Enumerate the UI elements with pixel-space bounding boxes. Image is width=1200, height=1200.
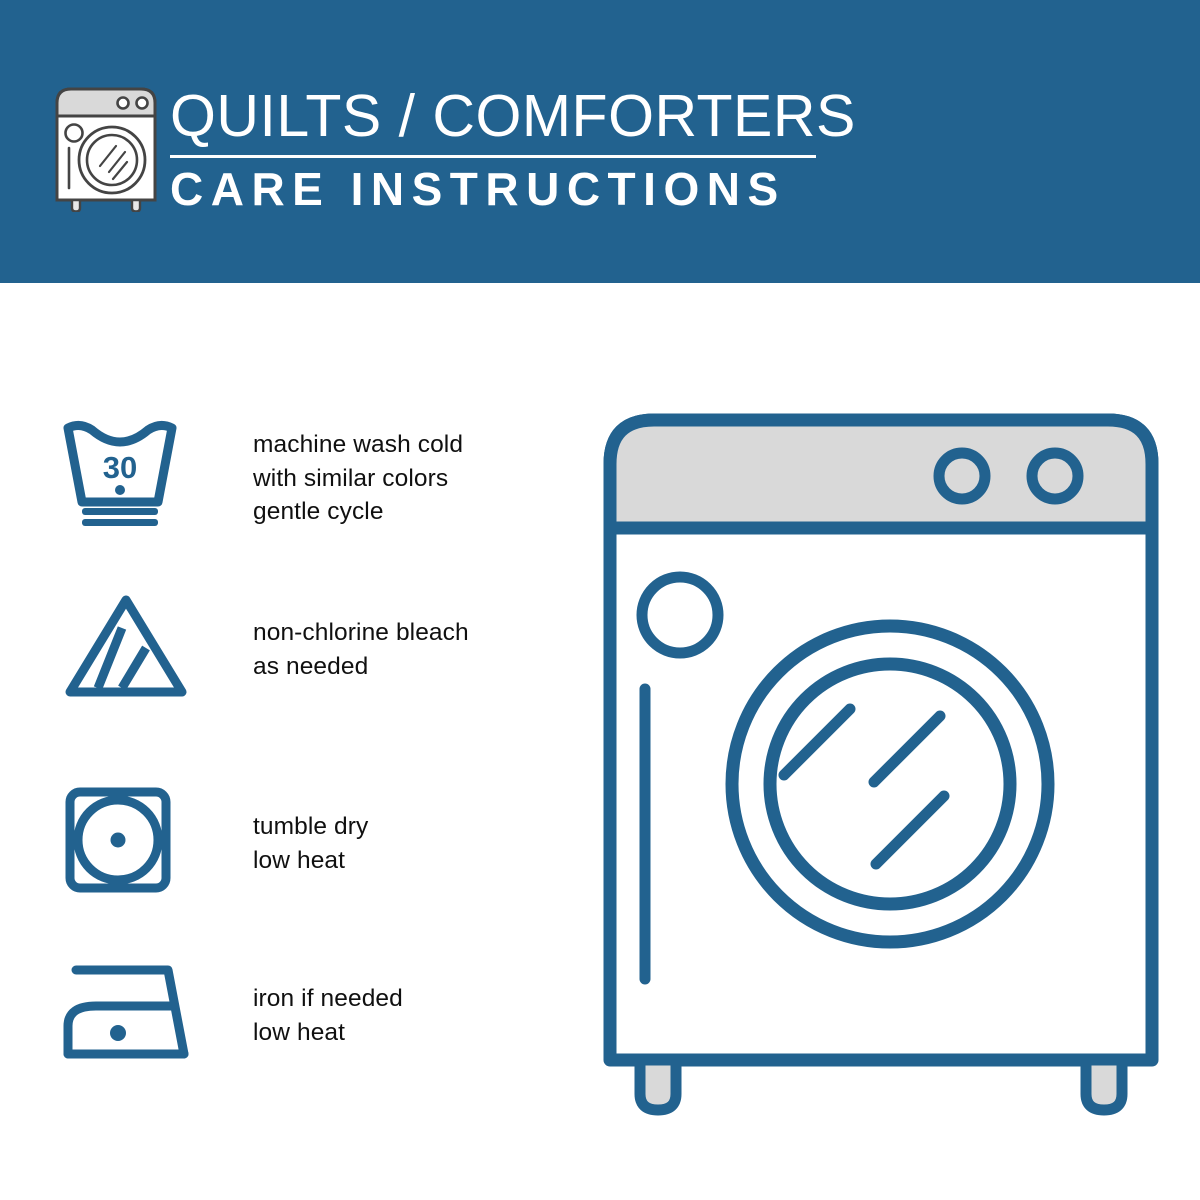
washer-indicator-circle: [642, 577, 718, 653]
care-text-bleach: non-chlorine bleach as needed: [253, 616, 469, 683]
wash-temperature-label: 30: [103, 450, 137, 485]
care-line: with similar colors: [253, 462, 463, 496]
care-text-iron: iron if needed low heat: [253, 982, 403, 1049]
care-line: non-chlorine bleach: [253, 616, 469, 650]
care-instructions-page: QUILTS / COMFORTERS CARE INSTRUCTIONS 30: [0, 0, 1200, 1200]
iron-icon: [62, 958, 194, 1067]
care-line: low heat: [253, 844, 368, 878]
washing-machine-illustration: [596, 404, 1166, 1120]
care-instruction-list: 30 machine wash cold with similar colors…: [0, 0, 560, 1200]
care-line: iron if needed: [253, 982, 403, 1016]
care-text-tumble-dry: tumble dry low heat: [253, 810, 368, 877]
tumble-dry-icon: [62, 786, 182, 899]
care-text-machine-wash: machine wash cold with similar colors ge…: [253, 428, 463, 529]
care-line: tumble dry: [253, 810, 368, 844]
care-line: low heat: [253, 1016, 403, 1050]
care-line: machine wash cold: [253, 428, 463, 462]
washer-foot-right: [1086, 1060, 1122, 1110]
bleach-triangle-icon: [62, 592, 190, 703]
washer-door-inner-ring: [770, 664, 1010, 904]
washer-foot-left: [640, 1060, 676, 1110]
washer-knob-left: [939, 453, 985, 499]
care-line: gentle cycle: [253, 495, 463, 529]
care-line: as needed: [253, 650, 469, 684]
wash-tub-icon: 30: [62, 418, 190, 531]
washer-knob-right: [1032, 453, 1078, 499]
